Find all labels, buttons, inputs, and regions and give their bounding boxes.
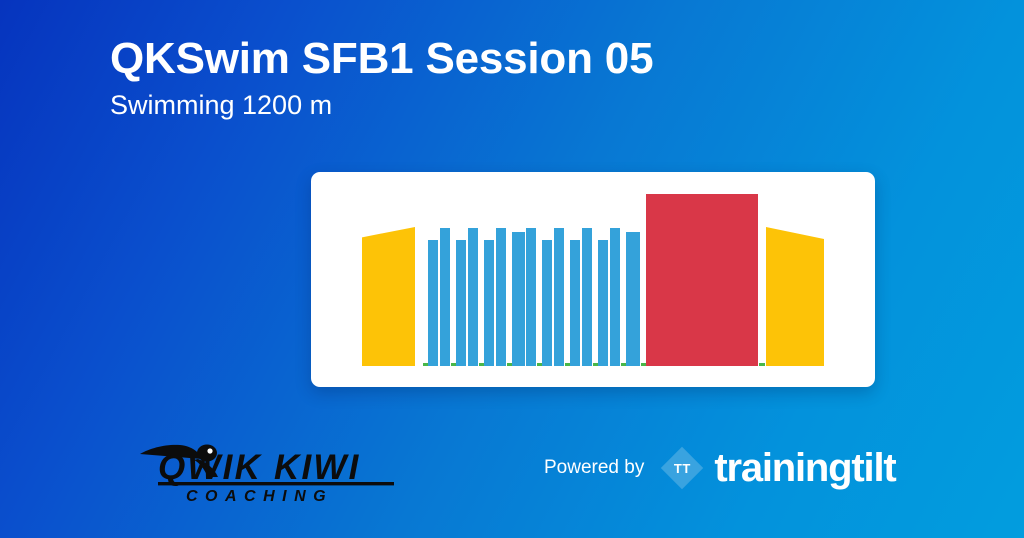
rest-marker-9 — [641, 363, 646, 366]
brand-name-secondary: tilt — [851, 446, 895, 490]
brand-name-primary: training — [714, 446, 851, 490]
chart-bar-interval-4b — [526, 228, 536, 366]
chart-bar-interval-3b — [496, 228, 506, 366]
workout-poster: QKSwim SFB1 Session 05 Swimming 1200 m Q… — [0, 0, 1024, 538]
workout-bar-chart — [362, 194, 824, 366]
chart-bar-interval-5a — [542, 240, 552, 366]
workout-chart-card — [311, 172, 875, 387]
page-title: QKSwim SFB1 Session 05 — [110, 36, 910, 82]
powered-by-group: Powered by TT trainingtilt — [544, 446, 895, 490]
chart-bar-interval-3a — [484, 240, 494, 366]
rest-marker-7 — [593, 363, 598, 366]
rest-marker-3 — [479, 363, 484, 366]
chart-bar-interval-2a — [456, 240, 466, 366]
chart-bar-cool-down — [766, 227, 824, 366]
chart-bar-interval-5b — [554, 228, 564, 366]
chart-bar-main-set — [646, 194, 758, 366]
rest-marker-6 — [565, 363, 570, 366]
rest-marker-1 — [423, 363, 428, 366]
rest-marker-5 — [537, 363, 542, 366]
chart-bar-interval-7a — [598, 240, 608, 366]
rest-marker-8 — [621, 363, 626, 366]
chart-bar-interval-7b — [610, 228, 620, 366]
chart-bar-interval-2b — [468, 228, 478, 366]
workout-subtitle: Swimming 1200 m — [110, 91, 910, 121]
chart-bar-warm-up — [362, 227, 415, 366]
svg-text:COACHING: COACHING — [186, 488, 333, 504]
chart-bar-interval-8a — [626, 232, 640, 366]
rest-marker-2 — [451, 363, 456, 366]
svg-text:QWIK KIWI: QWIK KIWI — [158, 448, 361, 487]
chart-bar-interval-1a — [428, 240, 438, 366]
rest-marker-10 — [759, 363, 765, 366]
chart-bar-interval-6a — [570, 240, 580, 366]
qwik-kiwi-coaching-logo: QWIK KIWI COACHING — [128, 432, 403, 504]
tt-monogram-label: TT — [660, 446, 704, 490]
chart-bar-interval-4a — [512, 232, 525, 366]
chart-bar-interval-6b — [582, 228, 592, 366]
powered-by-label: Powered by — [544, 457, 644, 479]
header: QKSwim SFB1 Session 05 Swimming 1200 m — [110, 36, 910, 121]
training-tilt-wordmark: trainingtilt — [714, 448, 895, 488]
rest-marker-4 — [507, 363, 512, 366]
chart-bar-interval-1b — [440, 228, 450, 366]
footer: QWIK KIWI COACHING Powered by TT trainin… — [0, 424, 1024, 514]
training-tilt-diamond-icon: TT — [660, 446, 704, 490]
